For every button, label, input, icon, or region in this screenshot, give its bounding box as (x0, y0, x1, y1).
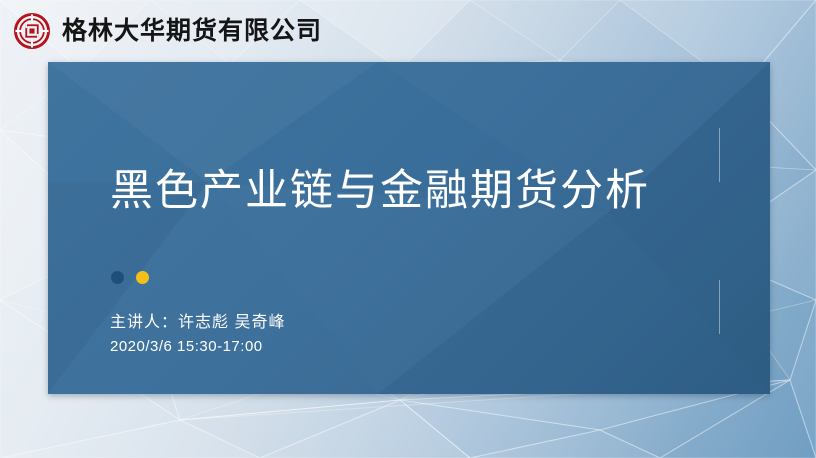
accent-tick-line-top (719, 128, 720, 182)
presentation-slide: 格林大华期货有限公司 黑色产业链与金融期货分析 主讲人：许志彪 吴奇峰 2020… (0, 0, 816, 458)
accent-tick-line-bottom (719, 280, 720, 334)
presenter-line: 主讲人：许志彪 吴奇峰 (110, 308, 285, 332)
accent-dots (111, 271, 149, 284)
datetime-line: 2020/3/6 15:30-17:00 (110, 338, 263, 355)
yellow-dot (136, 271, 149, 284)
title-card: 黑色产业链与金融期货分析 主讲人：许志彪 吴奇峰 2020/3/6 15:30-… (48, 62, 770, 394)
navy-dot (111, 271, 124, 284)
company-name: 格林大华期货有限公司 (62, 19, 322, 44)
slide-title: 黑色产业链与金融期货分析 (110, 170, 650, 213)
company-seal-icon (14, 13, 50, 49)
slide-header: 格林大华期货有限公司 (0, 0, 816, 62)
